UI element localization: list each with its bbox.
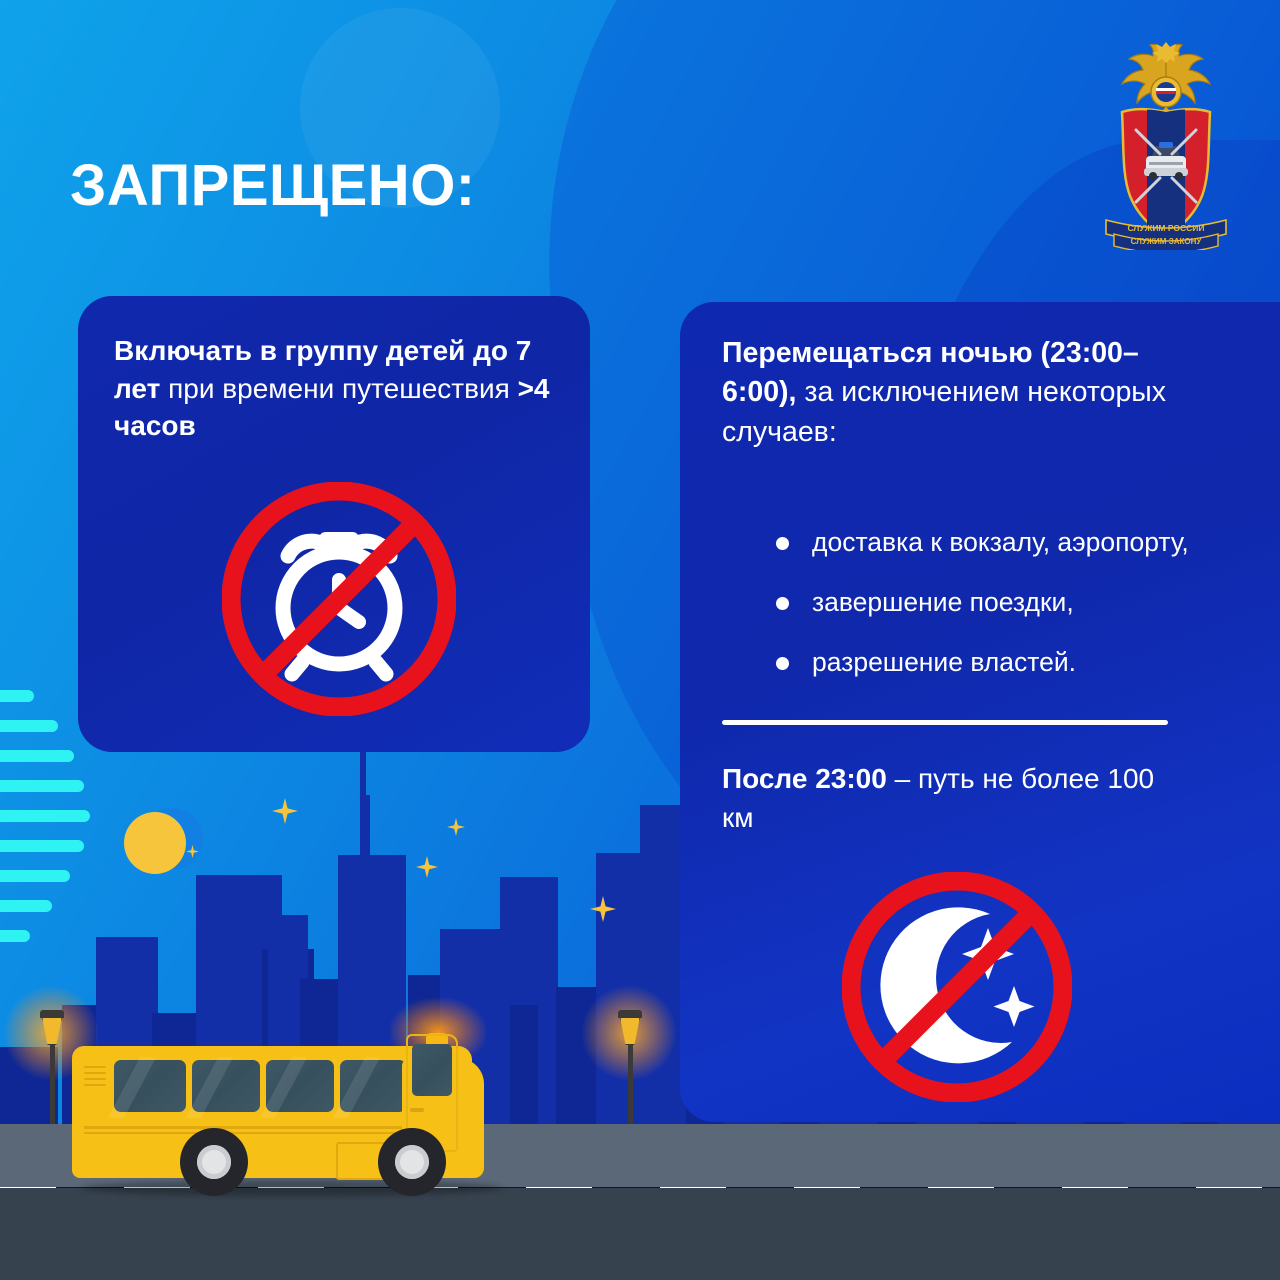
page-title: ЗАПРЕЩЕНО: — [70, 152, 476, 219]
poster-root: ЗАПРЕЩЕНО: — [0, 0, 1280, 1280]
alarm-clock-bell-top — [319, 532, 360, 550]
bus-window — [192, 1060, 260, 1112]
section-divider — [722, 720, 1168, 725]
cyan-bar — [0, 690, 34, 702]
motto-text-bottom: СЛУЖИМ ЗАКОНУ — [1131, 237, 1203, 246]
exceptions-list: доставка к вокзалу, аэропорту, завершени… — [724, 525, 1264, 706]
headline-regular: при времени путешествия — [160, 373, 517, 404]
card-right-headline: Перемещаться ночью (23:00–6:00), за искл… — [722, 334, 1192, 452]
bus-side-stripe — [84, 1126, 454, 1129]
list-item: доставка к вокзалу, аэропорту, — [764, 525, 1264, 559]
list-item: разрешение властей. — [764, 645, 1264, 679]
gibdd-emblem: СЛУЖИМ РОССИИ СЛУЖИМ ЗАКОНУ — [1086, 34, 1246, 250]
bus-door-handle — [410, 1108, 424, 1112]
bus-window — [114, 1060, 186, 1112]
footnote-bold: После 23:00 — [722, 763, 887, 794]
motto-ribbon: СЛУЖИМ РОССИИ СЛУЖИМ ЗАКОНУ — [1106, 220, 1226, 250]
school-bus — [72, 1024, 492, 1192]
lamp-head — [618, 1010, 642, 1018]
no-alarm-clock-icon — [222, 482, 456, 716]
road-surface — [0, 1188, 1280, 1280]
building-silhouette — [510, 1005, 538, 1125]
list-item: завершение поездки, — [764, 585, 1264, 619]
bus-vent — [84, 1066, 106, 1088]
star-glyph-small — [994, 986, 1035, 1027]
wheel-hub — [208, 1156, 220, 1168]
double-headed-eagle-icon — [1122, 42, 1210, 115]
motto-text-top: СЛУЖИМ РОССИИ — [1127, 223, 1204, 233]
no-night-moon-icon — [842, 872, 1072, 1102]
bus-door-window — [412, 1044, 452, 1096]
lamp-head — [40, 1010, 64, 1018]
card-left-headline: Включать в группу детей до 7 лет при вре… — [114, 332, 554, 445]
distance-footnote: После 23:00 – путь не более 100 км — [722, 760, 1162, 837]
wheel-hub — [406, 1156, 418, 1168]
crescent-moon-icon — [124, 812, 186, 874]
bus-wheel-rear — [180, 1128, 248, 1196]
bus-window — [266, 1060, 334, 1112]
bus-window — [340, 1060, 406, 1112]
bus-wheel-front — [378, 1128, 446, 1196]
